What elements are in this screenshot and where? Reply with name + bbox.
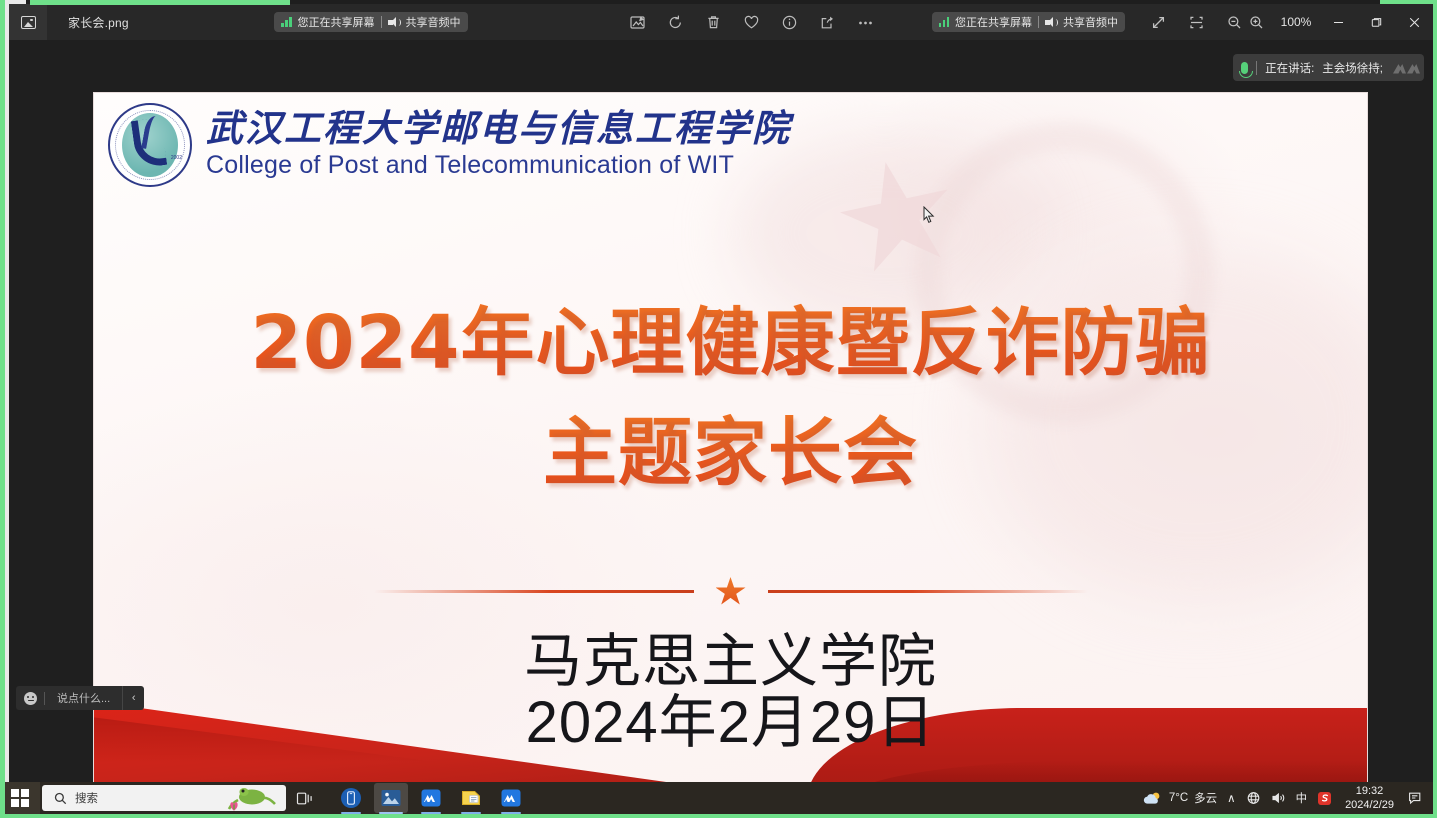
photos-icon — [380, 788, 402, 808]
university-crest-logo: 2002 — [108, 103, 192, 187]
note-app[interactable] — [454, 783, 488, 813]
clock-date: 2024/2/29 — [1345, 798, 1394, 812]
phone-link-icon — [340, 787, 362, 809]
window-titlebar: 家长会.png 您正在共享屏幕 共享音频中 — [9, 4, 1433, 40]
frog-widget-icon — [222, 785, 282, 811]
meeting-logo-icon — [1393, 62, 1420, 74]
star-divider — [94, 577, 1367, 606]
comment-placeholder[interactable]: 说点什么... — [45, 690, 122, 706]
image-stage: 正在讲话: 主会场徐持; 说点什么... ‹ — [9, 40, 1433, 814]
divider-line-right — [768, 590, 1088, 593]
share-audio-icon — [1045, 17, 1057, 28]
tray-expand-chevron-icon[interactable]: ∧ — [1222, 782, 1240, 814]
emoji-icon[interactable] — [24, 692, 37, 705]
weather-desc: 多云 — [1194, 790, 1217, 806]
weather-cloud-icon — [1142, 791, 1163, 806]
meeting-app-icon-2 — [500, 788, 522, 808]
share-screen-text-2: 您正在共享屏幕 — [955, 14, 1032, 30]
maximize-button[interactable] — [1357, 4, 1395, 40]
meeting-app-icon-1 — [420, 788, 442, 808]
search-input[interactable]: 搜索 — [42, 785, 286, 811]
fullscreen-icon[interactable] — [1147, 11, 1169, 33]
slide-title-block: 2024年心理健康暨反诈防骗 主题家长会 — [94, 289, 1367, 508]
speaker-name: 主会场徐持; — [1322, 60, 1383, 76]
share-status-badge-right: 您正在共享屏幕 共享音频中 — [932, 12, 1126, 32]
comment-input-bar[interactable]: 说点什么... ‹ — [16, 686, 144, 710]
school-name-block: 武汉工程大学邮电与信息工程学院 College of Post and Tele… — [206, 110, 791, 181]
zoom-out-icon[interactable] — [1223, 11, 1245, 33]
share-icon[interactable] — [816, 11, 838, 33]
school-name-en: College of Post and Telecommunication of… — [206, 151, 791, 180]
weather-temp: 7°C — [1169, 792, 1188, 804]
collapse-chevron-icon[interactable]: ‹ — [122, 686, 144, 710]
microphone-icon — [1241, 62, 1248, 74]
mouse-cursor — [923, 206, 935, 224]
slide-subtitle-line-1: 马克思主义学院 — [94, 631, 1367, 692]
divider-line-left — [374, 590, 694, 593]
share-audio-text-2: 共享音频中 — [1063, 14, 1118, 30]
weather-widget[interactable]: 7°C 多云 — [1134, 782, 1222, 814]
notification-icon[interactable] — [1402, 782, 1433, 814]
fit-to-window-icon[interactable] — [1185, 11, 1207, 33]
zoom-level-label: 100% — [1279, 15, 1313, 29]
photo-viewer-window: 家长会.png 您正在共享屏幕 共享音频中 — [9, 4, 1433, 814]
ime-indicator[interactable]: 中 — [1291, 782, 1313, 814]
clock[interactable]: 19:32 2024/2/29 — [1337, 782, 1402, 814]
close-button[interactable] — [1395, 4, 1433, 40]
rotate-icon[interactable] — [664, 11, 686, 33]
screenshare-border-right — [1433, 0, 1437, 818]
volume-icon[interactable] — [1266, 782, 1291, 814]
share-status-badge-left: 您正在共享屏幕 共享音频中 — [274, 12, 468, 32]
signal-bars-icon — [939, 17, 950, 27]
phone-link-app[interactable] — [334, 783, 368, 813]
slide-title-line-1: 2024年心理健康暨反诈防骗 — [94, 289, 1367, 399]
network-icon[interactable] — [1241, 782, 1266, 814]
titlebar-right: 您正在共享屏幕 共享音频中 — [932, 4, 1434, 40]
start-button[interactable] — [0, 782, 40, 814]
slide-title-line-2: 主题家长会 — [94, 399, 1367, 509]
titlebar-tools — [626, 4, 876, 40]
note-app-icon — [460, 788, 482, 808]
file-name-label: 家长会.png — [68, 14, 129, 31]
meeting-app-1[interactable] — [414, 783, 448, 813]
meeting-app-2[interactable] — [494, 783, 528, 813]
slide-subtitle-block: 马克思主义学院 2024年2月29日 — [94, 631, 1367, 754]
info-icon[interactable] — [778, 11, 800, 33]
minimize-button[interactable] — [1319, 4, 1357, 40]
slide-header: 2002 武汉工程大学邮电与信息工程学院 College of Post and… — [108, 103, 791, 187]
sogou-icon — [1317, 791, 1332, 806]
task-view-icon[interactable] — [286, 782, 322, 814]
signal-bars-icon — [281, 17, 292, 27]
image-file-icon — [9, 4, 47, 40]
slide-image[interactable]: 2002 武汉工程大学邮电与信息工程学院 College of Post and… — [93, 92, 1368, 801]
markup-edit-icon[interactable] — [626, 11, 648, 33]
system-tray: 7°C 多云 ∧ 中 — [1134, 782, 1437, 814]
more-options-icon[interactable] — [854, 11, 876, 33]
screen: 家长会.png 您正在共享屏幕 共享音频中 — [0, 0, 1437, 818]
search-placeholder: 搜索 — [75, 790, 98, 806]
taskbar-apps — [334, 783, 528, 813]
star-icon — [716, 577, 746, 606]
crest-year-label: 2002 — [171, 155, 182, 161]
windows-taskbar: 搜索 — [0, 782, 1437, 814]
slide-subtitle-line-2: 2024年2月29日 — [94, 692, 1367, 753]
favorite-heart-icon[interactable] — [740, 11, 762, 33]
zoom-in-icon[interactable] — [1245, 11, 1267, 33]
titlebar-left: 家长会.png — [9, 4, 129, 40]
share-audio-text: 共享音频中 — [406, 14, 461, 30]
speaking-label: 正在讲话: — [1265, 60, 1314, 76]
share-audio-icon — [388, 17, 400, 28]
sogou-input-icon[interactable] — [1312, 782, 1337, 814]
photos-app[interactable] — [374, 783, 408, 813]
search-icon — [54, 792, 67, 805]
delete-icon[interactable] — [702, 11, 724, 33]
school-name-cn: 武汉工程大学邮电与信息工程学院 — [206, 110, 791, 150]
active-speaker-overlay: 正在讲话: 主会场徐持; — [1233, 54, 1424, 81]
clock-time: 19:32 — [1356, 784, 1384, 798]
screenshare-border-bottom — [0, 814, 1437, 818]
share-screen-text: 您正在共享屏幕 — [298, 14, 375, 30]
